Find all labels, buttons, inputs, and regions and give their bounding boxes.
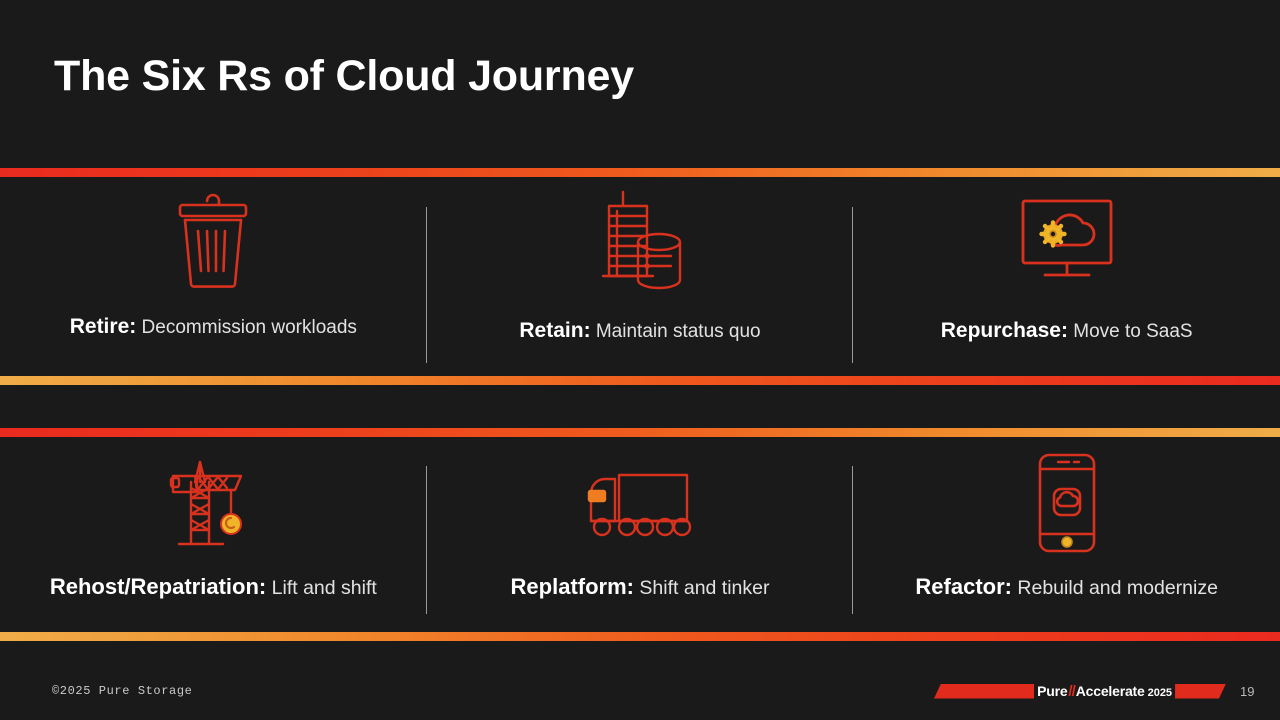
description-retire: Decommission workloads — [142, 317, 357, 338]
row-bottom: Rehost/Repatriation: Lift and shift — [0, 448, 1280, 634]
caption-refactor: Refactor: Rebuild and modernize — [915, 574, 1218, 600]
gradient-divider-top — [0, 168, 1280, 177]
description-repurchase: Move to SaaS — [1073, 321, 1192, 342]
cell-retain: Retain: Maintain status quo — [427, 185, 854, 375]
smartphone-cloud-app-icon — [1036, 448, 1098, 558]
description-retain: Maintain status quo — [596, 321, 761, 342]
slide-canvas: The Six Rs of Cloud Journey Retire: — [0, 0, 1280, 720]
logo-year: 2025 — [1148, 687, 1172, 699]
description-replatform: Shift and tinker — [639, 577, 769, 599]
logo-separator-icon: // — [1067, 683, 1075, 700]
cell-retire: Retire: Decommission workloads — [0, 185, 427, 375]
cell-repurchase: Repurchase: Move to SaaS — [853, 185, 1280, 375]
gradient-divider-row1-bottom — [0, 376, 1280, 385]
term-retire: Retire: — [70, 315, 137, 338]
caption-rehost-repatriation: Rehost/Repatriation: Lift and shift — [50, 574, 377, 600]
monitor-cloud-gear-icon — [1015, 185, 1119, 297]
caption-retain: Retain: Maintain status quo — [519, 319, 760, 343]
page-number: 19 — [1240, 684, 1254, 699]
caption-replatform: Replatform: Shift and tinker — [511, 574, 770, 600]
cell-rehost-repatriation: Rehost/Repatriation: Lift and shift — [0, 448, 427, 634]
logo-brand: Pure — [1037, 683, 1067, 699]
gradient-divider-row2-top — [0, 428, 1280, 437]
pure-accelerate-logo: Pure // Accelerate 2025 — [934, 681, 1226, 701]
term-repurchase: Repurchase: — [941, 319, 1068, 342]
logo-wordmark: Pure // Accelerate 2025 — [1034, 683, 1175, 700]
caption-retire: Retire: Decommission workloads — [70, 315, 357, 339]
construction-crane-icon — [165, 448, 261, 558]
slide-title: The Six Rs of Cloud Journey — [54, 52, 634, 101]
delivery-truck-icon — [585, 448, 695, 558]
term-refactor: Refactor: — [915, 574, 1012, 599]
cell-replatform: Replatform: Shift and tinker — [427, 448, 854, 634]
logo-product: Accelerate — [1076, 683, 1145, 699]
description-rehost-repatriation: Lift and shift — [272, 577, 377, 599]
logo-band-left — [934, 684, 1034, 699]
cell-refactor: Refactor: Rebuild and modernize — [853, 448, 1280, 634]
logo-band-right — [1175, 684, 1226, 699]
term-replatform: Replatform: — [511, 574, 634, 599]
datacenter-building-database-icon — [597, 185, 683, 297]
term-retain: Retain: — [519, 319, 590, 342]
copyright-text: ©2025 Pure Storage — [52, 684, 192, 698]
trash-can-icon — [174, 185, 252, 297]
row-top: Retire: Decommission workloads — [0, 185, 1280, 375]
term-rehost-repatriation: Rehost/Repatriation: — [50, 574, 266, 599]
caption-repurchase: Repurchase: Move to SaaS — [941, 319, 1193, 343]
description-refactor: Rebuild and modernize — [1017, 577, 1218, 599]
